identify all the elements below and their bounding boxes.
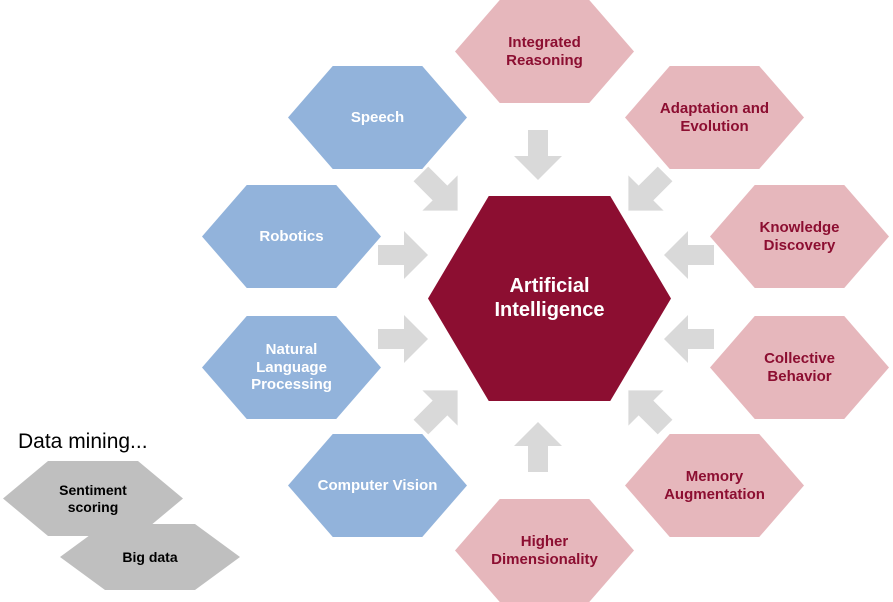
hex-computer-vision[interactable]: Computer Vision <box>288 434 467 537</box>
arrow-bottom-right <box>619 381 673 435</box>
data-mining-heading: Data mining... <box>18 430 148 454</box>
hex-adaptation-evolution[interactable]: Adaptation and Evolution <box>625 66 804 169</box>
arrow-top-right <box>619 166 673 220</box>
arrow-bottom <box>512 420 564 472</box>
hex-robotics[interactable]: Robotics <box>202 185 381 288</box>
hex-knowledge-discovery[interactable]: Knowledge Discovery <box>710 185 889 288</box>
hex-label-computer-vision: Computer Vision <box>312 477 444 495</box>
arrow-bottom-left <box>413 381 467 435</box>
arrow-top <box>512 130 564 182</box>
hex-label-integrated-reasoning: Integrated Reasoning <box>500 34 589 69</box>
hex-label-collective-behavior: Collective Behavior <box>758 350 841 385</box>
hex-label-memory-augmentation: Memory Augmentation <box>658 468 771 503</box>
hex-label-natural-language-processing: Natural Language Processing <box>245 341 338 394</box>
hex-label-higher-dimensionality: Higher Dimensionality <box>485 533 604 568</box>
hex-label-speech: Speech <box>345 109 410 127</box>
hex-memory-augmentation[interactable]: Memory Augmentation <box>625 434 804 537</box>
hex-natural-language-processing[interactable]: Natural Language Processing <box>202 316 381 419</box>
hex-artificial-intelligence[interactable]: Artificial Intelligence <box>428 196 671 401</box>
hex-collective-behavior[interactable]: Collective Behavior <box>710 316 889 419</box>
hex-label-sentiment-scoring: Sentiment scoring <box>53 482 133 515</box>
hex-speech[interactable]: Speech <box>288 66 467 169</box>
arrow-left-lower <box>378 313 430 365</box>
hex-label-artificial-intelligence: Artificial Intelligence <box>488 275 610 322</box>
hex-label-knowledge-discovery: Knowledge Discovery <box>753 219 845 254</box>
diagram-canvas: Integrated Reasoning Adaptation and Evol… <box>0 0 893 602</box>
hex-higher-dimensionality[interactable]: Higher Dimensionality <box>455 499 634 602</box>
arrow-right-lower <box>662 313 714 365</box>
hex-label-adaptation-evolution: Adaptation and Evolution <box>654 100 775 135</box>
arrow-left-upper <box>378 229 430 281</box>
arrow-top-left <box>413 166 467 220</box>
hex-label-big-data: Big data <box>116 549 183 566</box>
arrow-right-upper <box>662 229 714 281</box>
hex-label-robotics: Robotics <box>253 228 329 246</box>
hex-integrated-reasoning[interactable]: Integrated Reasoning <box>455 0 634 103</box>
